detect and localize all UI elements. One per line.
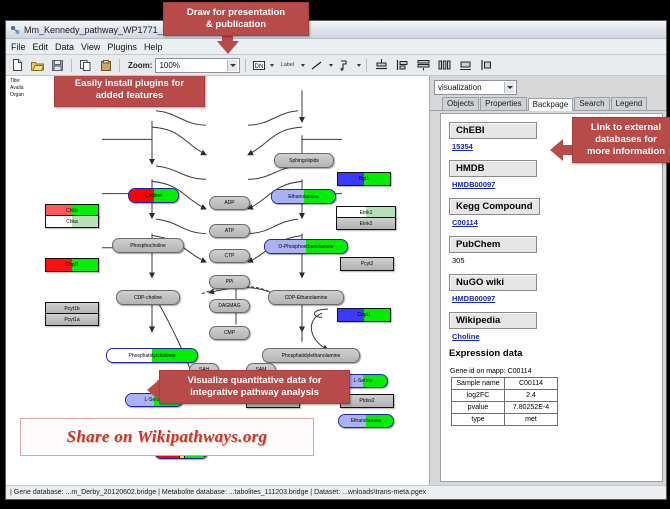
expression-data-heading: Expression data [449, 348, 662, 359]
metabolite-node-ctp[interactable]: CTP [209, 249, 250, 263]
callout-visualize: Visualize quantitative data for integrat… [159, 370, 350, 404]
gene-node-label: Bgt1 [359, 176, 369, 182]
metabolite-node-label: CDP-Ethanolamine [285, 295, 328, 301]
tab-properties[interactable]: Properties [480, 97, 526, 110]
gene-node-pcyt2[interactable]: Pcyt2 [340, 257, 394, 271]
db-name-kegg: Kegg Compound [449, 198, 540, 215]
gene-node-chka[interactable]: Chka [45, 215, 99, 228]
tool-bar: Zoom: 100% DN Label [6, 55, 666, 76]
metabolite-node-label: ADP [224, 200, 234, 206]
callout-draw-line1: Draw for presentation [171, 7, 301, 19]
metabolite-node-label: Ethanolamine [288, 194, 319, 200]
db-link-wikipedia[interactable]: Choline [452, 332, 662, 341]
metabolite-node-cdp-ethanolamine[interactable]: CDP-Ethanolamine [268, 290, 344, 305]
db-value-pubchem: 305 [452, 256, 662, 265]
db-link-hmdb[interactable]: HMDB00097 [452, 180, 662, 189]
expr-key: Sample name [452, 378, 505, 390]
metabolite-node-ethanolamine[interactable]: Ethanolamine [271, 189, 336, 204]
table-row: log2FC 2.4 [452, 390, 558, 402]
menu-view[interactable]: View [81, 42, 100, 52]
visualization-combo[interactable]: visualization [434, 80, 517, 95]
line-icon[interactable] [308, 57, 325, 74]
toolbar-separator [245, 59, 246, 72]
expr-key: pvalue [452, 402, 505, 414]
gene-node-label: Ptdss2 [359, 398, 374, 404]
side-panel-tabs: Objects Properties Backpage Search Legen… [430, 96, 666, 111]
share-banner: Share on Wikipathways.org [20, 418, 314, 456]
callout-link-line3: more information [580, 146, 670, 158]
db-name-nugo: NuGO wiki [449, 274, 537, 291]
metabolite-node-label: Sphingolipids [289, 158, 319, 164]
menu-help[interactable]: Help [144, 42, 163, 52]
metabolite-node-dagmag[interactable]: DAGMAG [209, 299, 250, 313]
expr-value: C00114 [505, 378, 558, 390]
db-name-wikipedia: Wikipedia [449, 312, 537, 329]
datanode-dropdown-icon[interactable] [270, 64, 274, 67]
metabolite-node-choline[interactable]: Choline [128, 188, 179, 203]
callout-link-line2: databases for [580, 134, 670, 146]
callout-draw: Draw for presentation & publication [163, 2, 309, 36]
gene-node-label: Pcyt1a [64, 317, 79, 323]
gene-node-chpt1[interactable]: Chpt1 [45, 258, 99, 272]
metabolite-node-label: CTP [225, 253, 235, 259]
svg-text:DN: DN [255, 64, 264, 70]
callout-visualize-line2: integrative pathway analysis [167, 387, 342, 399]
metabolite-node-label: PPi [226, 279, 234, 285]
label-dropdown-icon[interactable] [301, 64, 305, 67]
metabolite-node-cdp-choline[interactable]: CDP-choline [116, 290, 180, 305]
chevron-down-icon[interactable] [227, 60, 237, 71]
metabolite-node-label: ATP [225, 228, 234, 234]
title-bar: Mm_Kennedy_pathway_WP1771_45176.gpml [6, 21, 666, 39]
copy-icon[interactable] [77, 57, 94, 74]
align-center-icon[interactable] [372, 57, 390, 74]
distribute-icon[interactable] [435, 57, 453, 74]
gene-node-label: Pcyt2 [361, 261, 374, 267]
gene-node-label: Chpt1 [65, 262, 78, 268]
callout-link-arrow [550, 139, 563, 161]
menu-bar: File Edit Data View Plugins Help [6, 39, 666, 55]
db-link-kegg[interactable]: C00114 [452, 218, 662, 227]
table-row: type met [452, 414, 558, 426]
metabolite-node-atp[interactable]: ATP [209, 224, 250, 238]
visualization-combo-value: visualization [438, 83, 482, 92]
status-text: | Gene database: ...m_Derby_20120602.bri… [10, 489, 426, 496]
visualization-row: visualization [430, 76, 666, 96]
gene-node-cept1[interactable]: Cept1 [337, 308, 391, 322]
metabolite-node-ethanolamine[interactable]: Ethanolamine [338, 414, 394, 428]
tab-backpage[interactable]: Backpage [528, 98, 574, 111]
callout-draw-line2: & publication [171, 19, 301, 31]
db-name-pubchem: PubChem [449, 236, 537, 253]
align-left-icon[interactable] [393, 57, 411, 74]
gene-node-label: Chka [66, 219, 78, 225]
gene-node-label: Cept1 [357, 312, 370, 318]
chevron-down-icon[interactable] [504, 82, 514, 93]
anchor-icon[interactable] [336, 57, 353, 74]
expr-value: met [505, 414, 558, 426]
zoom-value: 100% [159, 61, 179, 70]
label-icon[interactable]: Label [277, 57, 297, 74]
metabolite-node-o-phosphoethanolamine[interactable]: O-Phosphoethanolamine [264, 239, 348, 254]
menu-file[interactable]: File [11, 42, 26, 52]
table-row: Sample name C00114 [452, 378, 558, 390]
db-entry: Kegg Compound C00114 [449, 196, 662, 227]
metabolite-node-cmp[interactable]: CMP [209, 326, 250, 340]
callout-plugins-line1: Easily install plugins for [62, 78, 197, 90]
metabolite-node-label: DAGMAG [218, 303, 240, 309]
paste-icon[interactable] [97, 57, 114, 74]
metabolite-node-label: Ethanolamine [351, 418, 382, 424]
callout-draw-arrow [217, 41, 239, 54]
db-entry: NuGO wiki HMDB00097 [449, 272, 662, 303]
new-file-icon[interactable] [9, 57, 26, 74]
expr-value: 2.4 [505, 390, 558, 402]
gene-node-label: Etnk2 [360, 221, 373, 227]
expr-key: log2FC [452, 390, 505, 402]
metabolite-node-label: O-Phosphoethanolamine [278, 244, 333, 250]
toolbar-separator [366, 59, 367, 72]
metabolite-node-label: CDP-choline [134, 295, 162, 301]
menu-data[interactable]: Data [55, 42, 74, 52]
metabolite-node-label: L-Serine [354, 378, 373, 384]
menu-plugins[interactable]: Plugins [107, 42, 137, 52]
db-entry: PubChem 305 [449, 234, 662, 265]
gene-node-bgt1[interactable]: Bgt1 [337, 172, 391, 186]
line-dropdown-icon[interactable] [329, 64, 333, 67]
expr-key: type [452, 414, 505, 426]
gene-node-label: Etnk1 [360, 210, 373, 216]
metabolite-node-label: CMP [224, 330, 235, 336]
gene-node-label: Chkb [66, 208, 78, 214]
metabolite-node-sphingolipids[interactable]: Sphingolipids [274, 153, 334, 168]
menu-edit[interactable]: Edit [33, 42, 49, 52]
datanode-icon[interactable]: DN [251, 57, 266, 74]
gene-node-etnk2[interactable]: Etnk2 [336, 217, 396, 230]
db-name-hmdb: HMDB [449, 160, 537, 177]
table-row: pvalue 7.80252E-4 [452, 402, 558, 414]
metabolite-node-label: Phosphatidylethanolamine [282, 353, 341, 359]
save-icon[interactable] [49, 57, 66, 74]
db-entry: Wikipedia Choline [449, 310, 662, 341]
metabolite-node-label: Phosphatidylcholines [129, 353, 176, 359]
zoom-combo[interactable]: 100% [155, 58, 240, 73]
tab-legend[interactable]: Legend [611, 97, 648, 110]
tab-search[interactable]: Search [574, 97, 609, 110]
metabolite-node-phosphocholine[interactable]: Phosphocholine [112, 238, 184, 253]
db-name-chebi: ChEBI [449, 122, 537, 139]
metabolite-node-adp[interactable]: ADP [209, 196, 250, 210]
group-icon[interactable] [477, 57, 495, 74]
backpage-content[interactable]: ChEBI 15354 HMDB HMDB00097 Kegg Compound… [440, 113, 663, 482]
pathvisio-icon [10, 25, 20, 35]
callout-plugins-line2: added features [62, 90, 197, 102]
size-icon[interactable] [456, 57, 474, 74]
toolbar-separator [119, 59, 120, 72]
toolbar-separator [71, 59, 72, 72]
callout-link: Link to external databases for more info… [572, 117, 670, 163]
open-folder-icon[interactable] [29, 57, 46, 74]
callout-visualize-line1: Visualize quantitative data for [167, 375, 342, 387]
tab-objects[interactable]: Objects [442, 97, 479, 110]
stack-vertical-icon[interactable] [414, 57, 432, 74]
metabolite-node-phosphatidylcholines[interactable]: Phosphatidylcholines [106, 348, 198, 363]
callout-link-line1: Link to external [580, 122, 670, 134]
metabolite-node-ppi[interactable]: PPi [209, 275, 250, 289]
metabolite-node-phosphatidylethanolamine[interactable]: Phosphatidylethanolamine [262, 348, 360, 363]
expr-value: 7.80252E-4 [505, 402, 558, 414]
expression-table: Sample name C00114 log2FC 2.4 pvalue 7.8… [451, 377, 558, 426]
gene-id-on-mapp: Gene id on mapp: C00114 [450, 368, 662, 375]
metabolite-node-label: Choline [145, 193, 162, 199]
db-link-nugo[interactable]: HMDB00097 [452, 294, 662, 303]
gene-node-pcyt1a[interactable]: Pcyt1a [45, 313, 99, 326]
share-banner-text: Share on Wikipathways.org [67, 427, 268, 447]
anchor-dropdown-icon[interactable] [357, 64, 361, 67]
gene-node-label: Pcyt1b [64, 306, 79, 312]
zoom-label: Zoom: [128, 61, 152, 70]
callout-plugins: Easily install plugins for added feature… [54, 76, 205, 107]
metabolite-node-label: Phosphocholine [130, 243, 166, 249]
status-bar: | Gene database: ...m_Derby_20120602.bri… [6, 485, 666, 499]
